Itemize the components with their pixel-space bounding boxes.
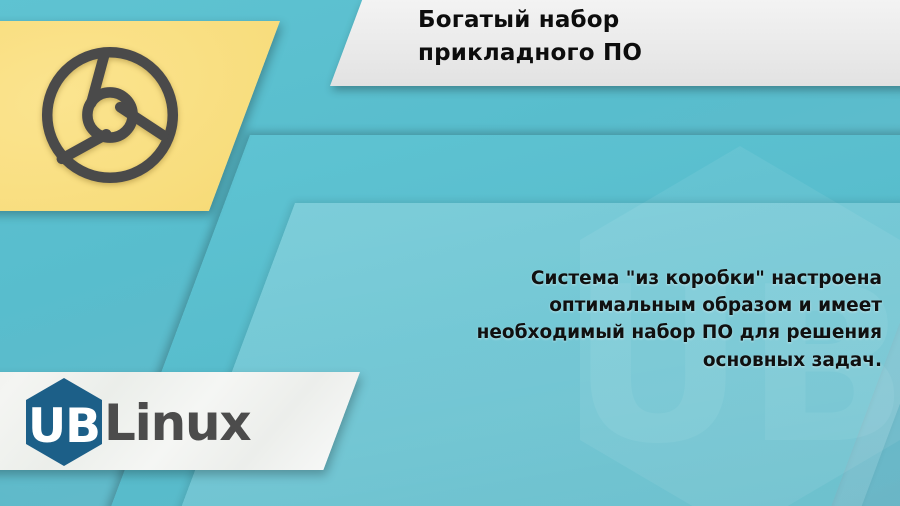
body-paragraph: Система "из коробки" настроена оптимальн… [420,265,882,374]
page-title: Богатый набор прикладного ПО [418,4,888,71]
presentation-slide: UB Богатый набор прикладного ПО Система … [0,0,900,506]
ub-hexagon-mark: UB [22,376,106,468]
chromium-browser-icon [37,42,183,188]
title-line-1: Богатый набор [418,4,888,37]
logo-wordmark: Linux [104,398,250,448]
body-line-3: необходимый набор ПО для решения [420,319,882,346]
hexagon-ub-text: UB [28,399,100,454]
body-line-4: основных задач. [420,347,882,374]
body-line-2: оптимальным образом и имеет [420,292,882,319]
body-line-1: Система "из коробки" настроена [420,265,882,292]
title-line-2: прикладного ПО [418,37,888,70]
ub-linux-logo: UB Linux [22,376,250,468]
